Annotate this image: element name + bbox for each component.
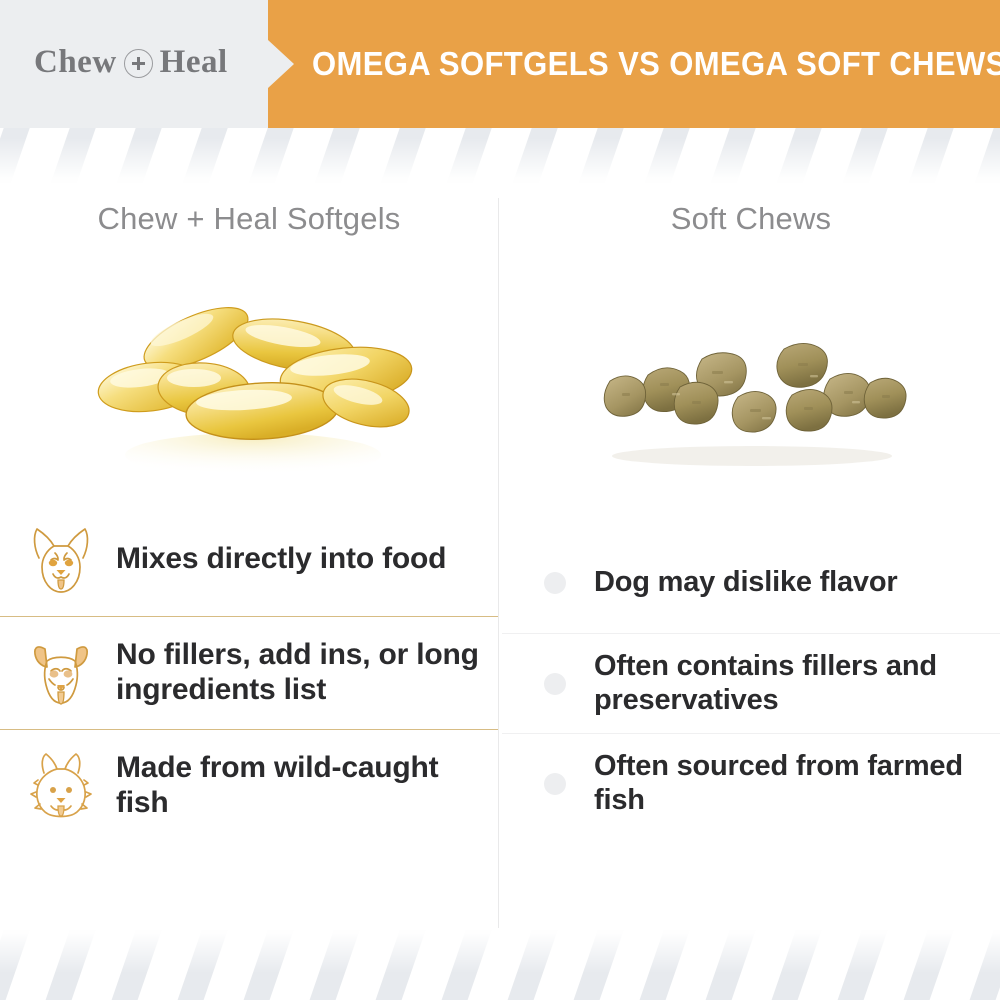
- top-stripe-band: [0, 128, 1000, 183]
- plus-circle-icon: [124, 49, 153, 78]
- feature-text: Often contains fillers and preservatives: [588, 650, 990, 717]
- corgi-dog-face-icon: [22, 520, 100, 600]
- soft-chew-treats-photo: [552, 323, 952, 473]
- feature-text: Made from wild-caught fish: [100, 751, 484, 821]
- infographic-page: Chew Heal OMEGA SOFTGELS VS OMEGA SOFT C…: [0, 0, 1000, 1000]
- column-divider: [498, 198, 499, 928]
- feature-row: Often contains fillers and preservatives: [502, 633, 1000, 733]
- feature-row: Mixes directly into food: [0, 503, 498, 616]
- column-soft-chews: Soft Chews: [502, 183, 1000, 930]
- feature-list-soft-chews: Dog may dislike flavor Often contains fi…: [502, 533, 1000, 833]
- terrier-dog-face-icon: [22, 633, 100, 713]
- header: Chew Heal OMEGA SOFTGELS VS OMEGA SOFT C…: [0, 0, 1000, 128]
- feature-row: Dog may dislike flavor: [502, 533, 1000, 633]
- omega-softgel-capsules-photo: [78, 283, 428, 478]
- page-title: OMEGA SOFTGELS VS OMEGA SOFT CHEWS: [312, 0, 1000, 128]
- brand-logo: Chew Heal: [34, 44, 228, 81]
- feature-row: Often sourced from farmed fish: [502, 733, 1000, 833]
- bullet-dot-icon: [522, 673, 588, 695]
- feature-text: No fillers, add ins, or long ingredients…: [100, 638, 484, 708]
- column-title-softgels: Chew + Heal Softgels: [0, 201, 498, 237]
- feature-text: Often sourced from farmed fish: [588, 750, 990, 817]
- feature-row: Made from wild-caught fish: [0, 729, 498, 842]
- logo-word-chew: Chew: [34, 44, 117, 81]
- bottom-stripe-band: [0, 930, 1000, 1000]
- feature-row: No fillers, add ins, or long ingredients…: [0, 616, 498, 729]
- feature-text: Dog may dislike flavor: [588, 566, 990, 600]
- feature-text: Mixes directly into food: [100, 542, 484, 577]
- bullet-dot-icon: [522, 773, 588, 795]
- comparison-body: Chew + Heal Softgels: [0, 183, 1000, 930]
- spitz-dog-face-icon: [22, 746, 100, 826]
- column-title-soft-chews: Soft Chews: [502, 201, 1000, 237]
- bullet-dot-icon: [522, 572, 588, 594]
- feature-list-softgels: Mixes directly into food: [0, 503, 498, 842]
- logo-word-heal: Heal: [160, 44, 228, 81]
- column-softgels: Chew + Heal Softgels: [0, 183, 498, 930]
